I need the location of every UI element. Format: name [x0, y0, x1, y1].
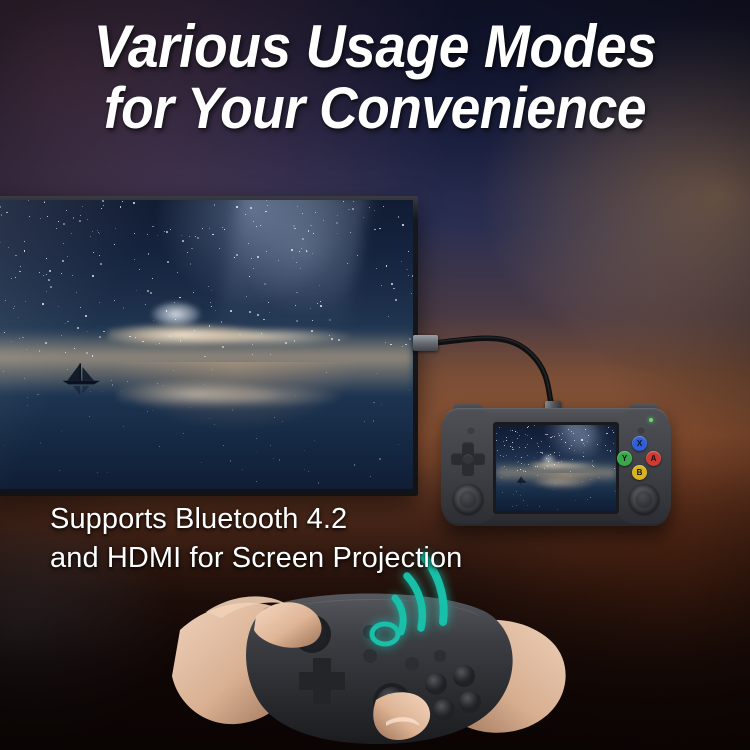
- handheld-start-button[interactable]: [637, 426, 645, 434]
- button-a[interactable]: A: [646, 451, 661, 466]
- left-analog-stick[interactable]: [453, 484, 483, 514]
- hh-scene-sailboat: [515, 473, 528, 483]
- handheld-select-button[interactable]: [467, 426, 475, 434]
- bluetooth-signal-icon: [355, 548, 485, 668]
- scene-stars: [0, 200, 413, 489]
- right-analog-stick[interactable]: [629, 484, 659, 514]
- button-y[interactable]: Y: [617, 451, 632, 466]
- television: [0, 196, 418, 496]
- dpad-center: [463, 454, 473, 464]
- dpad[interactable]: [451, 442, 485, 476]
- face-button-cluster: X Y A B: [617, 436, 661, 480]
- scene-sailboat: [58, 362, 105, 397]
- product-feature-image: Various Usage Modes for Your Convenience: [0, 0, 750, 750]
- tv-scene-night-sky: [0, 200, 413, 489]
- tv-screen: [0, 200, 413, 489]
- power-led-indicator: [649, 418, 653, 422]
- button-x[interactable]: X: [632, 436, 647, 451]
- handheld-screen: [493, 422, 619, 514]
- hh-scene-stars: [496, 425, 616, 511]
- hdmi-plug-tv-end: [413, 335, 438, 351]
- handheld-game-console: X Y A B: [443, 408, 669, 526]
- button-b[interactable]: B: [632, 465, 647, 480]
- handheld-scene-night-sky: [496, 425, 616, 511]
